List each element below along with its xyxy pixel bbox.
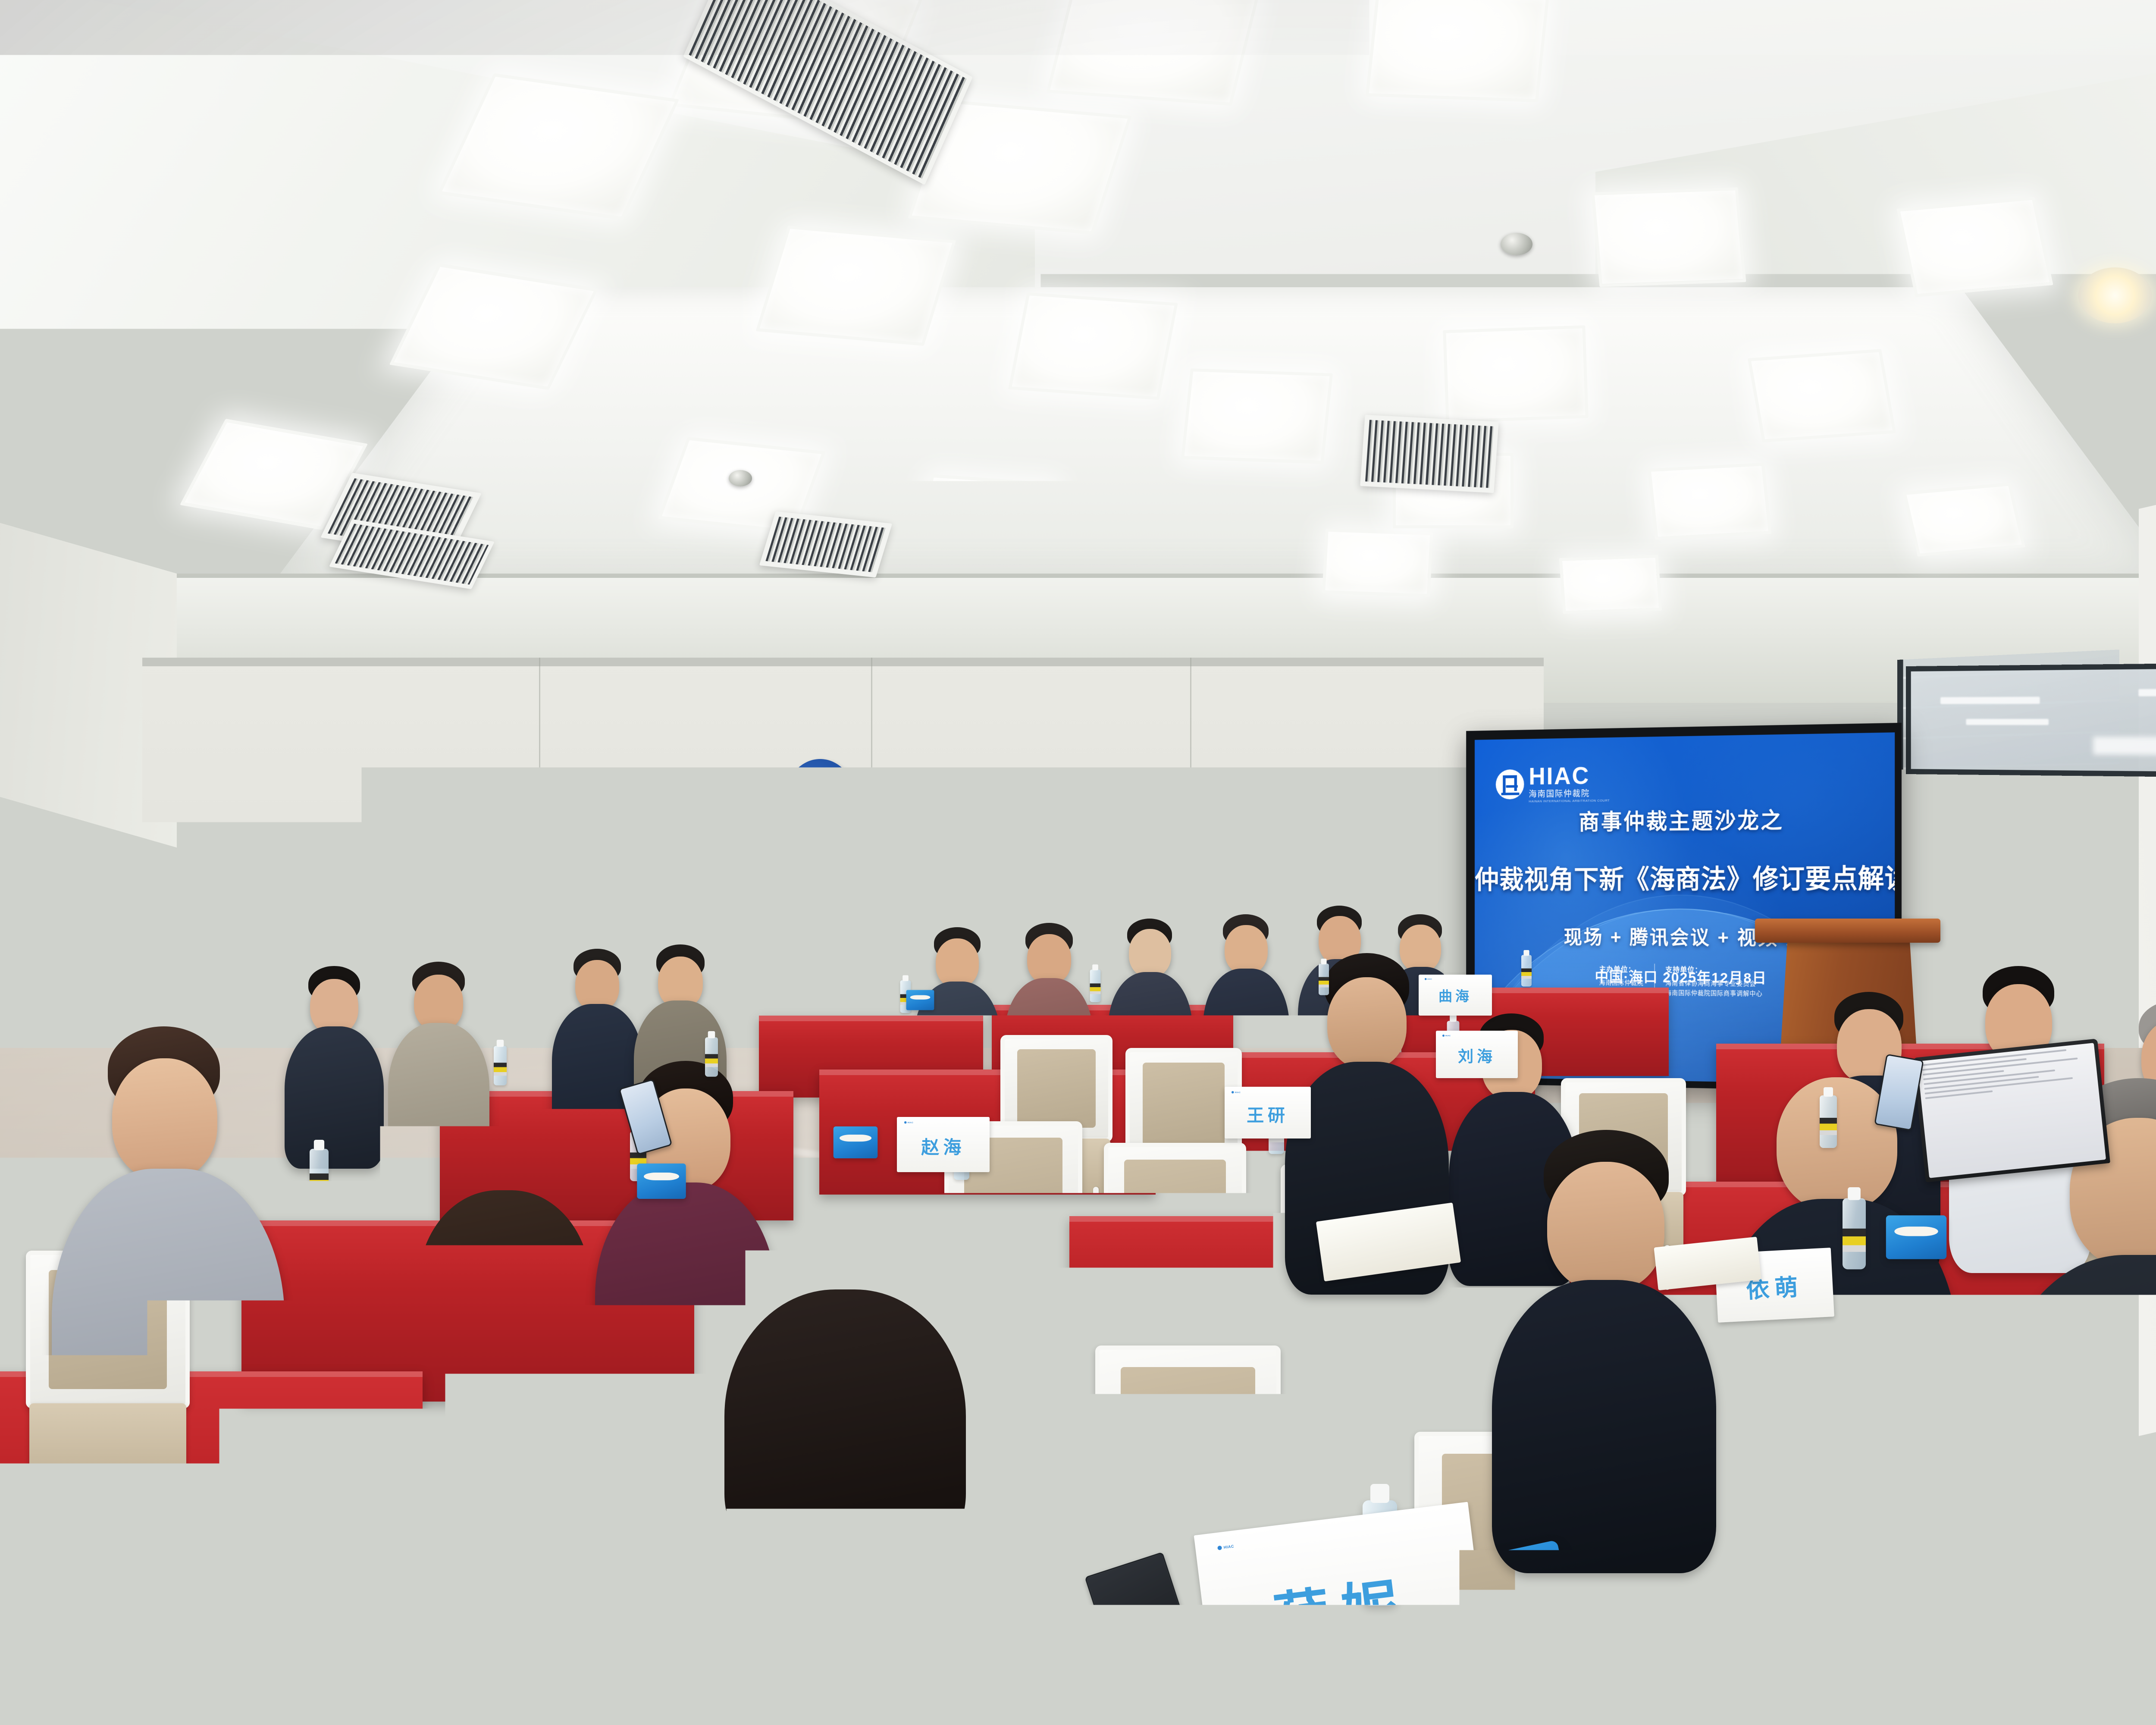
slide-support-item: 海南国际仲裁院国际商事调解中心 [1665, 988, 1762, 999]
placard-logo-icon [1232, 1091, 1234, 1094]
ac-vent-grille [1360, 415, 1499, 493]
chair[interactable] [1104, 1143, 1246, 1358]
water-bottle[interactable] [1820, 1095, 1837, 1148]
ceiling-light-panel [1896, 197, 2053, 297]
ceiling-light-panel [756, 226, 956, 346]
water-bottle[interactable] [494, 1046, 507, 1085]
slide-host-item: 海南国际仲裁院 [1599, 979, 1644, 988]
slide-title: 仲裁视角下新《海商法》修订要点解读与实务应用 [1475, 857, 1895, 896]
tissue-box[interactable] [1886, 1215, 1946, 1259]
placard-name: 刘海 [1436, 1044, 1518, 1078]
water-bottle[interactable] [1521, 955, 1532, 986]
placard-brand: HIAC [1223, 1544, 1234, 1549]
slide-host-label: 主办单位： [1599, 963, 1644, 974]
slide-logo-abbrev: HIAC [1529, 763, 1610, 789]
audience-person [1203, 914, 1289, 1091]
slide-logo-chinese: 海南国际仲裁院 [1529, 789, 1610, 799]
smoke-detector-icon [1501, 233, 1532, 255]
laptop[interactable] [1913, 1038, 2110, 1182]
hiac-logo-icon [1496, 769, 1524, 799]
slide-support-label: 支持单位： [1665, 964, 1762, 975]
name-placard: HIAC 赵海 [897, 1117, 990, 1172]
smoke-detector-icon [729, 470, 752, 486]
audience-person-foreground [595, 1061, 776, 1432]
placard-brand: HIAC [908, 1121, 913, 1124]
ceiling-light-panel [1748, 349, 1896, 442]
placard-logo-icon [1425, 978, 1427, 980]
name-placard: HIAC 薛妮 [1194, 1502, 1489, 1702]
water-bottle[interactable] [310, 1149, 329, 1207]
audience-person [1108, 919, 1192, 1091]
ceiling-light-panel [1125, 506, 1251, 581]
placard-logo-icon [1217, 1546, 1222, 1550]
water-bottle[interactable] [1090, 969, 1101, 1002]
audience-person-foreground [52, 1026, 285, 1501]
ceiling-downlight [2078, 267, 2152, 323]
wall-sign: 海南国际仲裁院 Hainan International Arbitration… [595, 759, 1044, 940]
placard-name: 曲海 [1419, 985, 1492, 1016]
audience-person [388, 962, 489, 1164]
ceiling-light-panel [1008, 292, 1178, 400]
placard-name: 王研 [1225, 1101, 1311, 1138]
tissue-box[interactable] [834, 1126, 878, 1158]
audience-person [1005, 923, 1093, 1100]
ceiling-light-panel [1366, 0, 1549, 102]
name-placard: HIAC 曲海 [1419, 975, 1492, 1016]
ceiling-edge-line [0, 574, 2156, 578]
ceiling-light-panel [1559, 555, 1662, 614]
ceiling-light-panel [1903, 483, 2026, 557]
audience-person-foreground [1492, 1130, 1716, 1561]
placard-logo-icon [1442, 1035, 1445, 1037]
laptop[interactable] [808, 997, 921, 1075]
door-transom-window [1906, 662, 2156, 779]
ceiling-light-panel [1181, 368, 1333, 464]
ceiling-light-panel [1648, 463, 1771, 540]
placard-brand: HIAC [1427, 978, 1432, 980]
ceiling-light-panel [1322, 529, 1433, 597]
placard-logo-icon [904, 1121, 907, 1124]
slide-support-item: 海南省律协海商海事专业委员会 [1665, 979, 1762, 989]
water-bottle[interactable] [705, 1037, 718, 1077]
placard-brand: HIAC [1235, 1091, 1241, 1094]
conference-room-photo: 海南国际仲裁院 Hainan International Arbitration… [0, 0, 2156, 1725]
ceiling-light-panel [1443, 325, 1589, 423]
audience-person [914, 927, 1000, 1100]
slide-series-line: 商事仲裁主题沙龙之 [1475, 801, 1895, 837]
placard-name: 赵海 [897, 1133, 990, 1172]
ceiling-light-panel [1591, 187, 1746, 287]
hiac-emblem-icon [784, 759, 856, 845]
water-bottle[interactable] [1319, 963, 1329, 995]
speaker-glasses-icon [1944, 833, 1999, 844]
ceiling-light-panel [1046, 0, 1260, 106]
audience-person-foreground [1725, 1501, 2070, 1725]
slide-logo: HIAC 海南国际仲裁院 HAINAN INTERNATIONAL ARBITR… [1496, 763, 1610, 803]
tissue-box[interactable] [637, 1164, 686, 1199]
name-placard: HIAC 王研 [1225, 1087, 1311, 1138]
audience-person [285, 966, 384, 1164]
water-bottle[interactable] [1843, 1198, 1866, 1270]
wall-seam [539, 658, 540, 1093]
placard-brand: HIAC [1445, 1035, 1451, 1037]
ceiling-light-panel [914, 474, 1059, 559]
name-placard: HIAC 刘海 [1436, 1031, 1518, 1078]
